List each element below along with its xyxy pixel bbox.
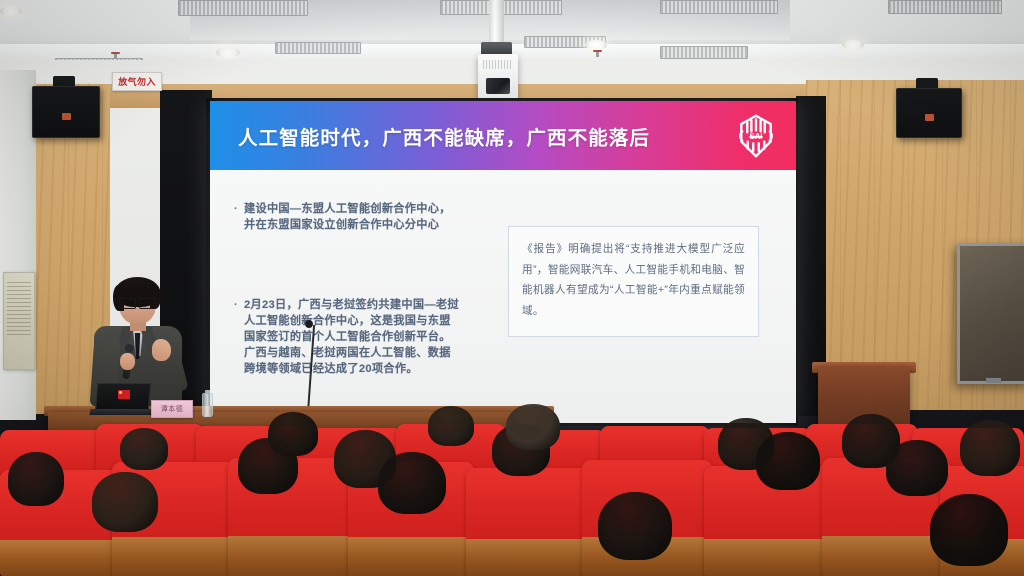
- audience-members: [0, 0, 1024, 576]
- audience-head: [120, 428, 168, 470]
- audience-head: [8, 452, 64, 506]
- audience-head: [930, 494, 1008, 566]
- audience-head: [428, 406, 474, 446]
- audience-head: [886, 440, 948, 496]
- audience-head: [960, 420, 1020, 476]
- audience-head: [756, 432, 820, 490]
- audience-head: [506, 404, 560, 450]
- lecture-hall-photo: 放气勿入 人工智能时代，广西不能缺席，广西不能落后 SAI: [0, 0, 1024, 576]
- audience-head: [92, 472, 158, 532]
- audience-head: [598, 492, 672, 560]
- audience-head: [378, 452, 446, 514]
- audience-head: [268, 412, 318, 456]
